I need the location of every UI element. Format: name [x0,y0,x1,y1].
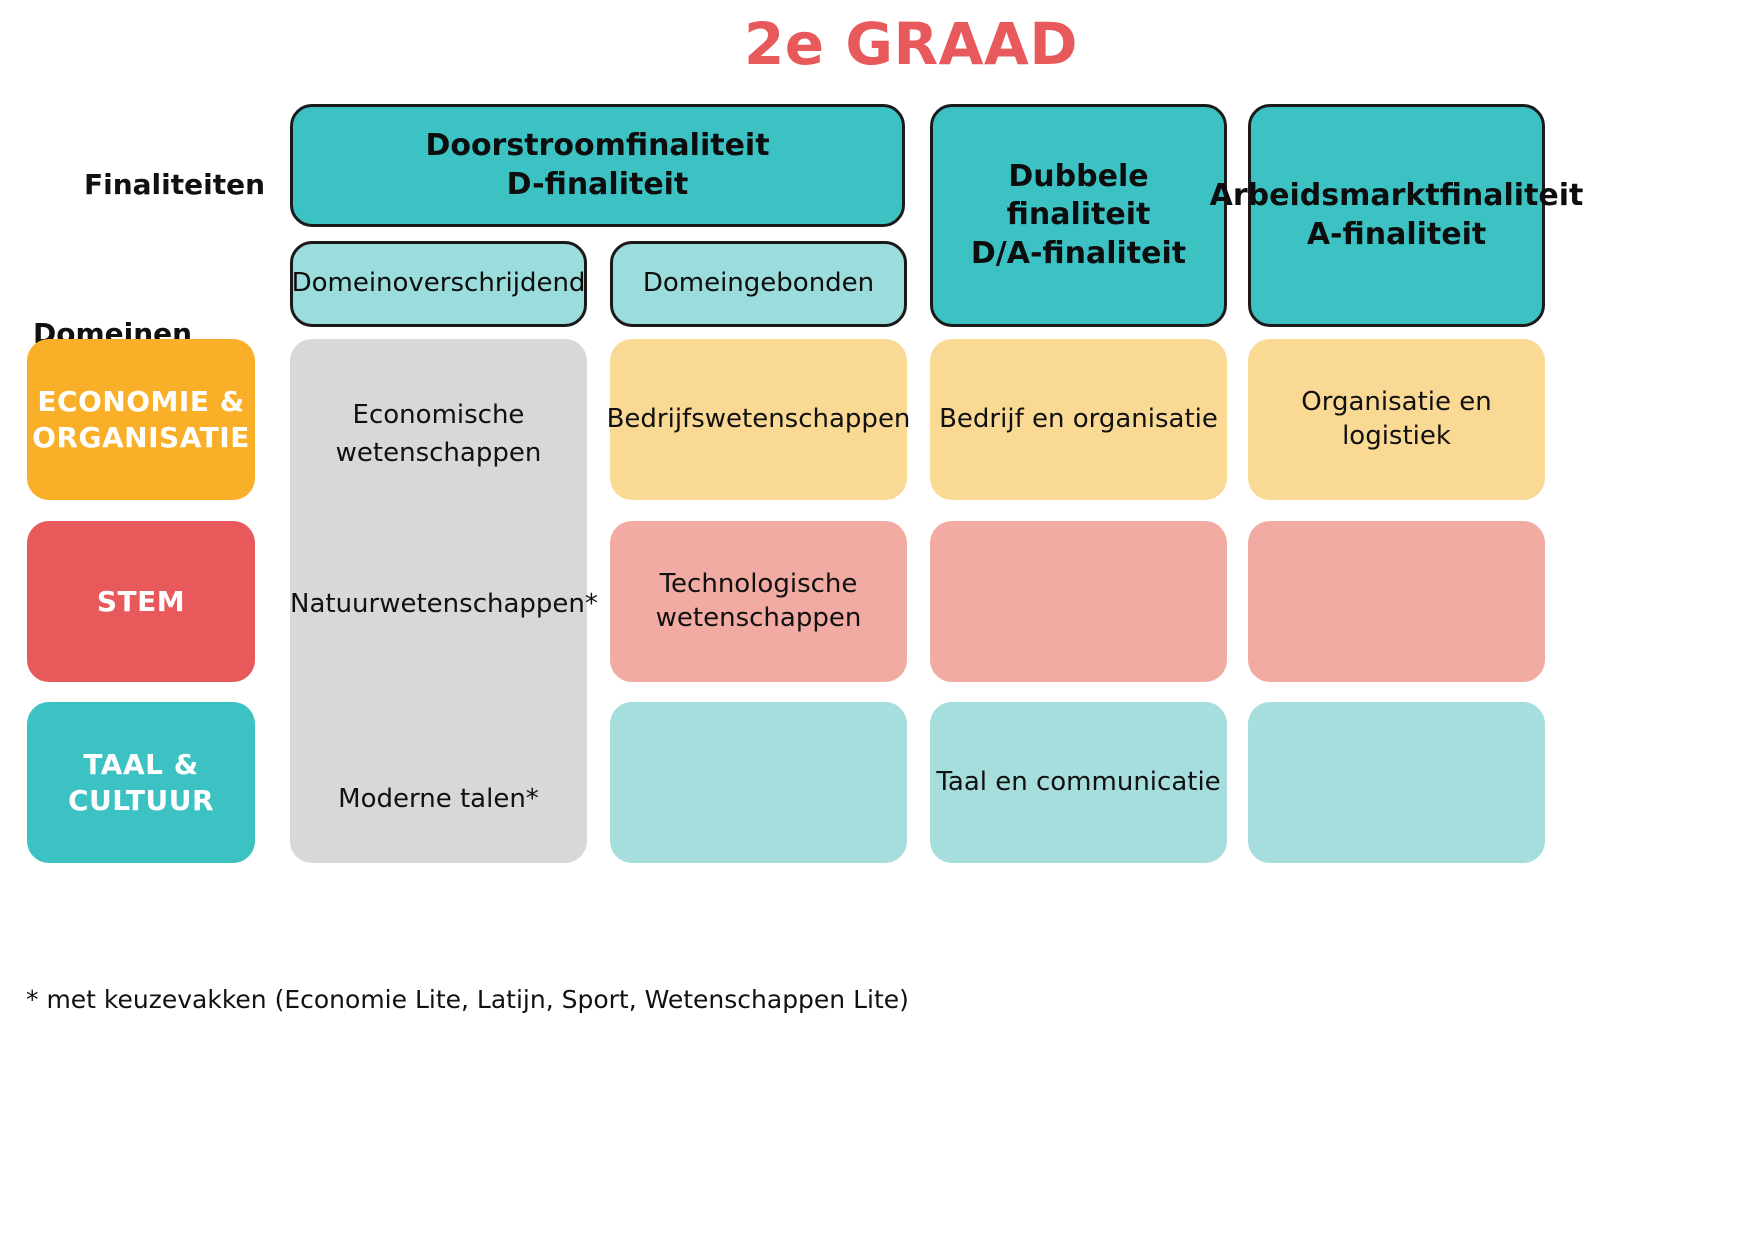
gray-cell-natuurwetenschappen: Natuurwetenschappen* [290,586,587,624]
scope-box-domeingebonden[interactable]: Domeingebonden [610,241,907,327]
domain-line2: CULTUUR [68,783,214,819]
cell-stem-arbeidsmarkt[interactable] [1248,521,1545,682]
finaliteit-line1: Arbeidsmarktfinaliteit [1210,177,1584,215]
finaliteit-box-dubbele[interactable]: Dubbele finaliteit D/A-finaliteit [930,104,1227,327]
cell-eco-domeingebonden[interactable]: Bedrijfswetenschappen [610,339,907,500]
finaliteit-line2: D-finaliteit [425,166,769,204]
domain-chip-stem[interactable]: STEM [27,521,255,682]
finaliteit-box-arbeidsmarkt[interactable]: Arbeidsmarktfinaliteit A-finaliteit [1248,104,1545,327]
finaliteit-line2: D/A-finaliteit [933,235,1224,273]
domain-line1: STEM [97,584,185,620]
row-label-finaliteiten: Finaliteiten [0,168,265,201]
scope-label: Domeingebonden [643,267,874,300]
gray-cell-line1: Economische [290,397,587,435]
scope-box-domeinoverschrijdend[interactable]: Domeinoverschrijdend [290,241,587,327]
cell-line1: Bedrijfswetenschappen [607,403,911,436]
cell-taal-arbeidsmarkt[interactable] [1248,702,1545,863]
finaliteit-line1: Dubbele finaliteit [933,158,1224,235]
domain-line1: ECONOMIE & [32,384,250,420]
cell-line1: Technologische [656,568,862,601]
finaliteit-line1: Doorstroomfinaliteit [425,127,769,165]
footnote: * met keuzevakken (Economie Lite, Latijn… [26,985,909,1014]
cell-line1: Taal en communicatie [936,766,1220,799]
domain-chip-taal-cultuur[interactable]: TAAL & CULTUUR [27,702,255,863]
cell-line1: Organisatie en logistiek [1248,386,1545,453]
cell-taal-dubbele[interactable]: Taal en communicatie [930,702,1227,863]
gray-cell-line1: Natuurwetenschappen* [290,586,587,624]
finaliteit-line2: A-finaliteit [1210,216,1584,254]
cell-taal-domeingebonden[interactable] [610,702,907,863]
gray-cell-economische-wetenschappen: Economische wetenschappen [290,397,587,472]
cell-line1: Bedrijf en organisatie [939,403,1218,436]
domain-chip-economie-organisatie[interactable]: ECONOMIE & ORGANISATIE [27,339,255,500]
finaliteit-box-doorstroom[interactable]: Doorstroomfinaliteit D-finaliteit [290,104,905,227]
cell-stem-domeingebonden[interactable]: Technologische wetenschappen [610,521,907,682]
gray-cell-line1: Moderne talen* [290,781,587,819]
cell-stem-dubbele[interactable] [930,521,1227,682]
page-title: 2e GRAAD [34,10,1754,78]
gray-cell-line2: wetenschappen [290,435,587,473]
scope-label: Domeinoverschrijdend [292,267,586,300]
domain-line1: TAAL & [68,747,214,783]
cell-line2: wetenschappen [656,602,862,635]
diagram-root: 2e GRAAD Finaliteiten Domeinen Doorstroo… [0,0,1754,1240]
domain-line2: ORGANISATIE [32,420,250,456]
cell-eco-dubbele[interactable]: Bedrijf en organisatie [930,339,1227,500]
cell-eco-arbeidsmarkt[interactable]: Organisatie en logistiek [1248,339,1545,500]
gray-cell-moderne-talen: Moderne talen* [290,781,587,819]
